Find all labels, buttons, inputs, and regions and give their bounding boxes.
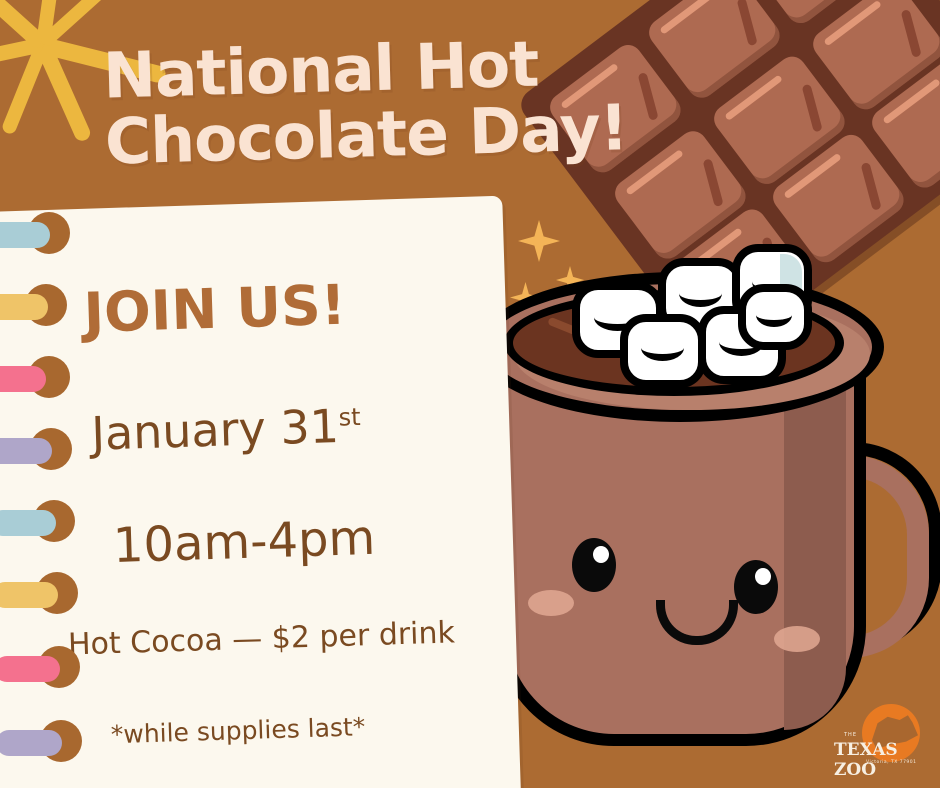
page-title: National Hot Chocolate Day! <box>102 29 725 172</box>
spiral-tab <box>0 294 48 320</box>
spiral-tab <box>0 438 52 464</box>
spiral-tab <box>0 366 46 392</box>
event-disclaimer: *while supplies last* <box>110 712 365 749</box>
event-date: January 31st <box>91 398 362 460</box>
event-price: Hot Cocoa — $2 per drink <box>67 615 455 662</box>
spiral-tab <box>0 510 56 536</box>
spiral-tab <box>0 222 50 248</box>
spiral-binding <box>0 210 100 788</box>
mug-right-eye <box>734 560 778 614</box>
event-time: 10am-4pm <box>112 510 376 574</box>
event-date-suffix: st <box>338 403 361 432</box>
poster-canvas: National Hot Chocolate Day! JOIN US! Jan… <box>0 0 940 788</box>
logo-location-label: Victoria, TX 77901 <box>866 760 917 765</box>
mug-left-eye <box>572 538 616 592</box>
marshmallow <box>738 284 812 350</box>
spiral-tab <box>0 582 58 608</box>
sparkle-icon <box>518 220 560 262</box>
texas-zoo-logo: THE TEXAS ZOO Victoria, TX 77901 <box>826 702 934 784</box>
event-date-text: January 31 <box>91 399 340 461</box>
marshmallow <box>620 314 706 388</box>
spiral-tab <box>0 730 62 756</box>
logo-the-label: THE <box>844 732 857 738</box>
join-us-heading: JOIN US! <box>83 273 347 345</box>
spiral-tab <box>0 656 60 682</box>
mug-left-blush <box>528 590 574 616</box>
mug-smile <box>656 600 738 645</box>
mug-right-blush <box>774 626 820 652</box>
